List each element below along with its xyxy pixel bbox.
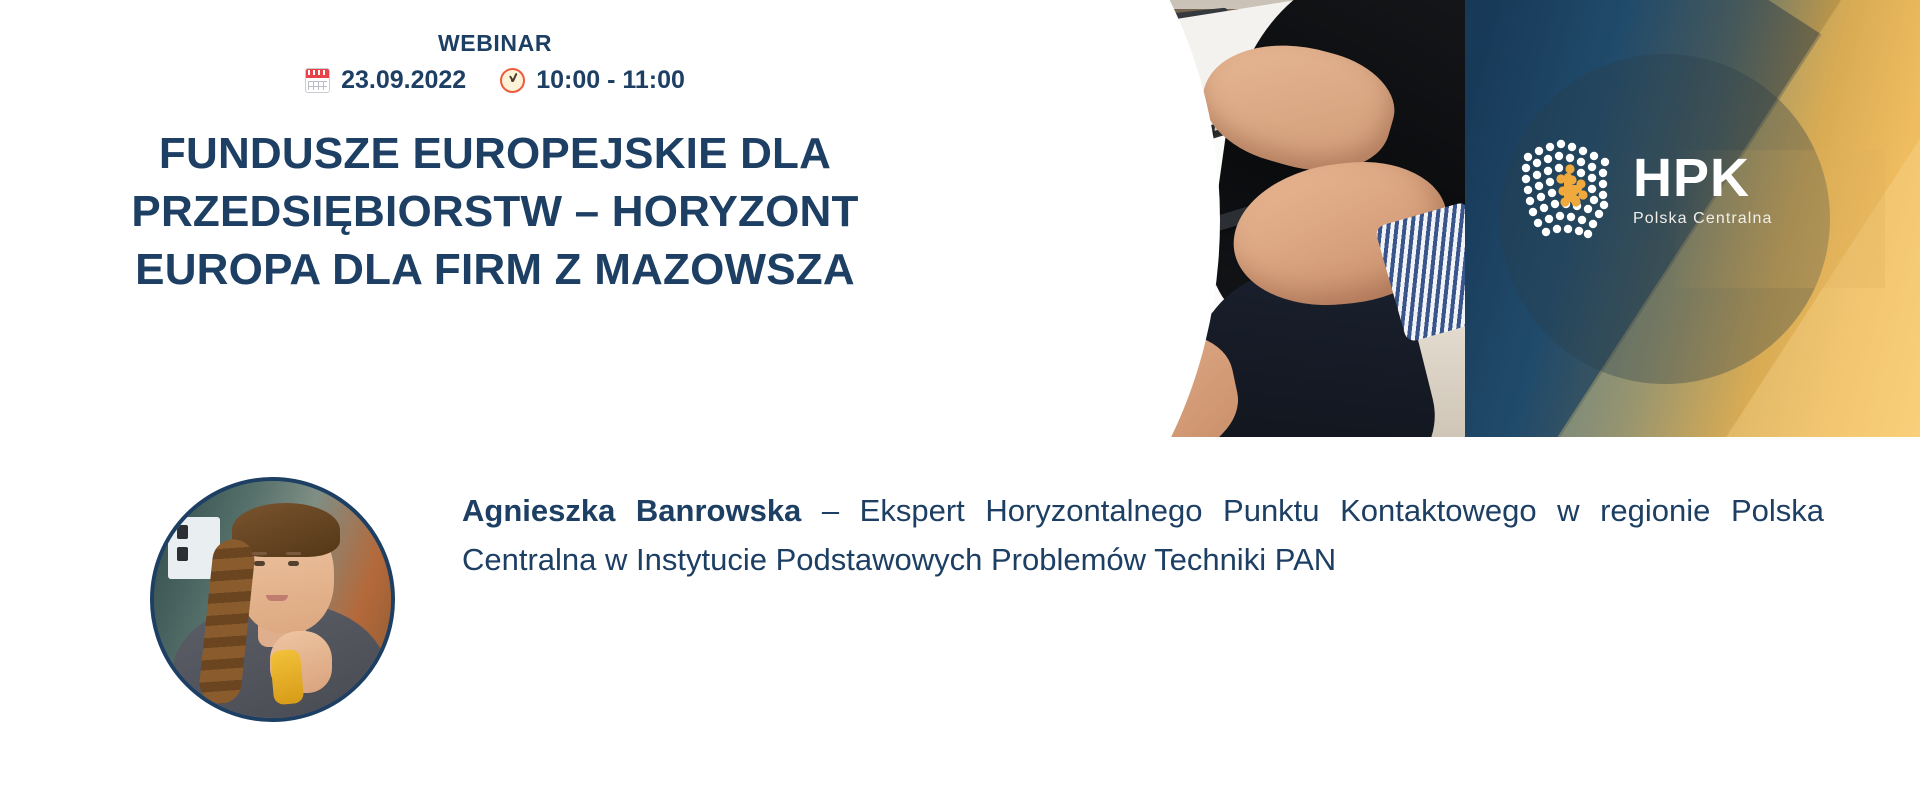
- avatar-eye-left: [254, 561, 265, 566]
- webinar-label: WEBINAR: [55, 30, 935, 57]
- event-date-text: 23.09.2022: [341, 66, 466, 95]
- event-time: 10:00 - 11:00: [500, 66, 685, 95]
- speaker-separator: –: [801, 493, 859, 528]
- hero-section: WEBINAR 23.09.2022 10:0: [0, 0, 1920, 437]
- avatar-eye-right: [288, 561, 299, 566]
- avatar-mouth: [266, 595, 288, 601]
- speaker-bio: Agnieszka Banrowska – Ekspert Horyzontal…: [462, 487, 1824, 585]
- speaker-section: Agnieszka Banrowska – Ekspert Horyzontal…: [0, 437, 1920, 810]
- avatar-eyebrow-left: [252, 552, 267, 555]
- poland-dot-map-icon: [1520, 135, 1615, 243]
- hpk-wordmark: HPK Polska Centralna: [1633, 151, 1772, 228]
- avatar-eyebrow-right: [286, 552, 301, 555]
- hpk-subtitle: Polska Centralna: [1633, 210, 1772, 228]
- speaker-name: Agnieszka Banrowska: [462, 493, 801, 528]
- page-title: FUNDUSZE EUROPEJSKIE DLA PRZEDSIĘBIORSTW…: [55, 125, 935, 299]
- hpk-logo: HPK Polska Centralna: [1520, 135, 1772, 243]
- avatar: [150, 477, 395, 722]
- webinar-banner: WEBINAR 23.09.2022 10:0: [0, 0, 1920, 810]
- event-date: 23.09.2022: [305, 66, 466, 95]
- avatar-pendant: [270, 649, 305, 705]
- calendar-icon: [305, 68, 330, 93]
- alarm-clock-icon: [500, 68, 525, 93]
- event-datetime-row: 23.09.2022 10:00 - 11:00: [55, 66, 935, 95]
- event-time-text: 10:00 - 11:00: [536, 66, 685, 95]
- header-text-block: WEBINAR 23.09.2022 10:0: [0, 0, 1000, 299]
- hpk-name: HPK: [1633, 151, 1772, 205]
